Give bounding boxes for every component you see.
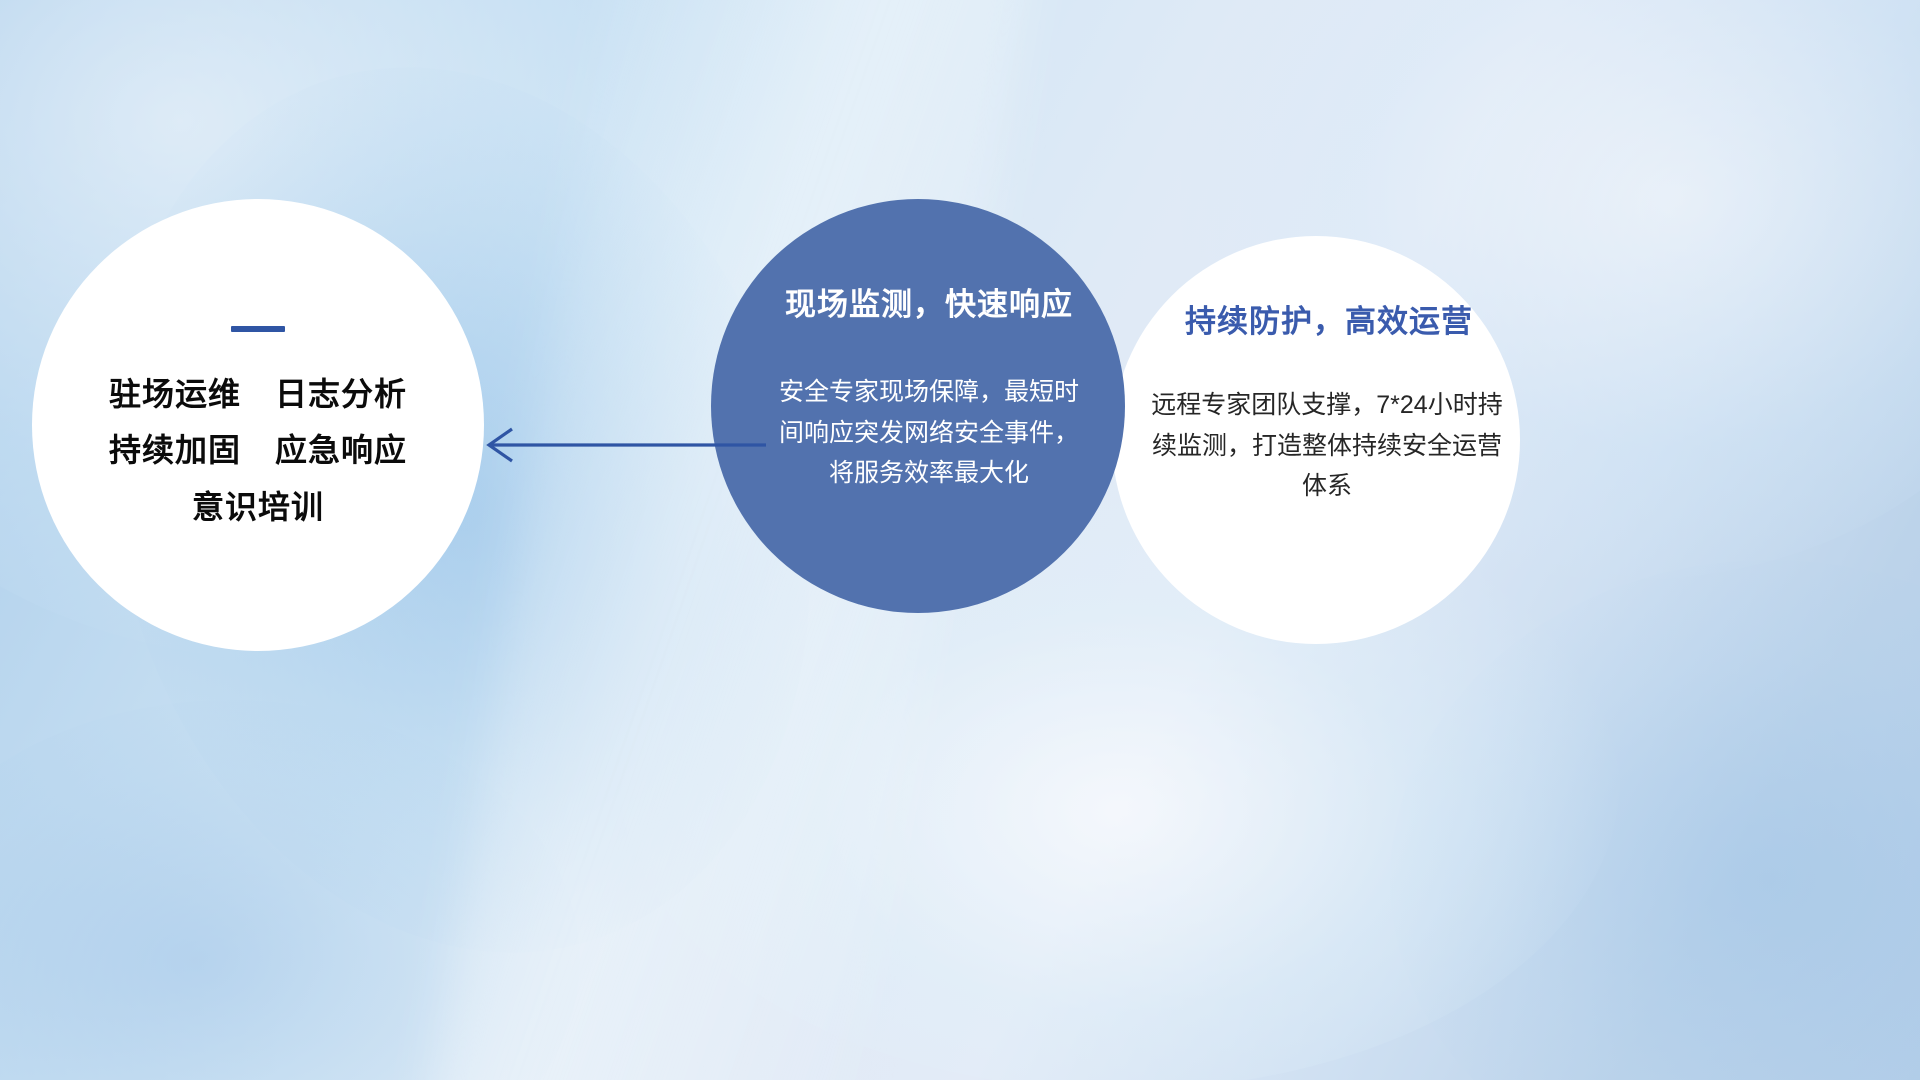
mid-circle-card: 现场监测，快速响应 安全专家现场保障，最短时间响应突发网络安全事件，将服务效率最… [711, 199, 1125, 613]
capability-item: 持续加固 [109, 434, 241, 468]
capability-row-1: 驻场运维 日志分析 [109, 378, 407, 412]
right-circle-body: 远程专家团队支撑，7*24小时持续监测，打造整体持续安全运营体系 [1149, 385, 1505, 507]
capability-item: 驻场运维 [109, 378, 241, 412]
right-circle-title: 持续防护，高效运营 [1185, 296, 1473, 341]
mid-circle-title: 现场监测，快速响应 [785, 279, 1073, 324]
mid-circle-body: 安全专家现场保障，最短时间响应突发网络安全事件，将服务效率最大化 [779, 372, 1079, 494]
capability-list: 驻场运维 日志分析 持续加固 应急响应 意识培训 [109, 378, 407, 525]
slide-canvas: 驻场运维 日志分析 持续加固 应急响应 意识培训 持续防护，高效运营 远程专家团… [0, 0, 1920, 1080]
capability-item: 意识培训 [192, 491, 324, 525]
background-bloom-bottom-right [1390, 560, 1920, 1080]
left-circle-card: 驻场运维 日志分析 持续加固 应急响应 意识培训 [32, 199, 484, 651]
capability-row-2: 持续加固 应急响应 [109, 434, 407, 468]
capability-item: 日志分析 [275, 378, 407, 412]
capability-item: 应急响应 [275, 434, 407, 468]
capability-row-3: 意识培训 [192, 491, 324, 525]
divider-dash [231, 326, 285, 332]
background-bloom-bottom-left [0, 700, 580, 1080]
flow-arrow-left [470, 400, 770, 490]
right-circle-card: 持续防护，高效运营 远程专家团队支撑，7*24小时持续监测，打造整体持续安全运营… [1112, 236, 1520, 644]
